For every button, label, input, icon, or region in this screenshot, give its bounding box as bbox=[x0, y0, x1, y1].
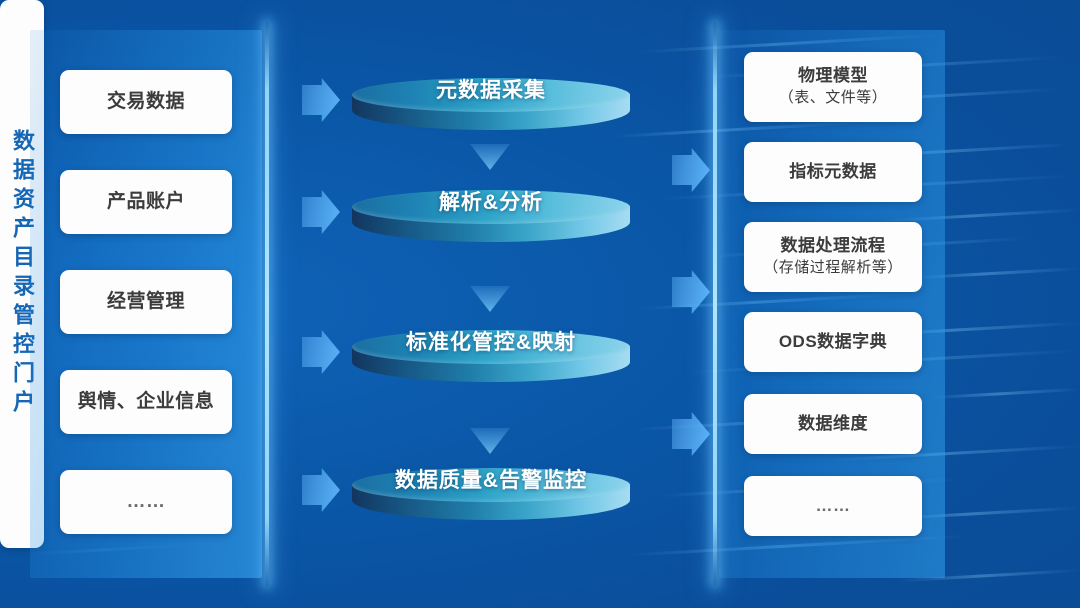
flow-arrow-left-2 bbox=[302, 190, 340, 234]
flow-arrow-right-3 bbox=[672, 412, 710, 456]
source-card-operations[interactable]: 经营管理 bbox=[60, 270, 232, 334]
asset-card-physical-model[interactable]: 物理模型 （表、文件等） bbox=[744, 52, 922, 122]
asset-card-title: 数据处理流程 bbox=[781, 236, 886, 257]
process-cylinder-label: 元数据采集 bbox=[352, 72, 630, 106]
asset-card-more[interactable]: …… bbox=[744, 476, 922, 536]
asset-card-title: ODS数据字典 bbox=[779, 332, 887, 353]
source-card-more[interactable]: …… bbox=[60, 470, 232, 534]
asset-card-title: 物理模型 bbox=[798, 66, 868, 87]
step-arrow-1 bbox=[470, 144, 510, 170]
process-cylinder-label: 数据质量&告警监控 bbox=[352, 462, 630, 496]
diagram-canvas: 交易数据 产品账户 经营管理 舆情、企业信息 …… 元数据采集 解析&分析 标准… bbox=[0, 0, 1080, 608]
divider-right bbox=[713, 22, 717, 586]
asset-card-subtitle: （存储过程解析等） bbox=[763, 259, 903, 277]
asset-card-data-dimension[interactable]: 数据维度 bbox=[744, 394, 922, 454]
source-card-product-account[interactable]: 产品账户 bbox=[60, 170, 232, 234]
source-card-label: 经营管理 bbox=[107, 290, 185, 313]
flow-arrow-left-1 bbox=[302, 78, 340, 122]
source-card-public-opinion[interactable]: 舆情、企业信息 bbox=[60, 370, 232, 434]
source-card-transaction[interactable]: 交易数据 bbox=[60, 70, 232, 134]
asset-card-data-process-flow[interactable]: 数据处理流程 （存储过程解析等） bbox=[744, 222, 922, 292]
asset-card-ods-dictionary[interactable]: ODS数据字典 bbox=[744, 312, 922, 372]
asset-card-title: …… bbox=[816, 496, 851, 517]
process-cylinder-label: 解析&分析 bbox=[352, 184, 630, 218]
flow-arrow-right-2 bbox=[672, 270, 710, 314]
asset-card-subtitle: （表、文件等） bbox=[779, 89, 888, 107]
asset-card-title: 指标元数据 bbox=[789, 162, 877, 183]
source-card-label: 交易数据 bbox=[107, 90, 185, 113]
asset-card-title: 数据维度 bbox=[798, 414, 868, 435]
source-card-label: …… bbox=[127, 490, 166, 513]
asset-card-metric-metadata[interactable]: 指标元数据 bbox=[744, 142, 922, 202]
step-arrow-3 bbox=[470, 428, 510, 454]
source-card-label: 产品账户 bbox=[107, 190, 185, 213]
flow-arrow-right-1 bbox=[672, 148, 710, 192]
flow-arrow-left-3 bbox=[302, 330, 340, 374]
source-card-label: 舆情、企业信息 bbox=[78, 390, 215, 413]
flow-arrow-left-4 bbox=[302, 468, 340, 512]
divider-left bbox=[265, 22, 269, 586]
process-cylinder-label: 标准化管控&映射 bbox=[352, 324, 630, 358]
step-arrow-2 bbox=[470, 286, 510, 312]
